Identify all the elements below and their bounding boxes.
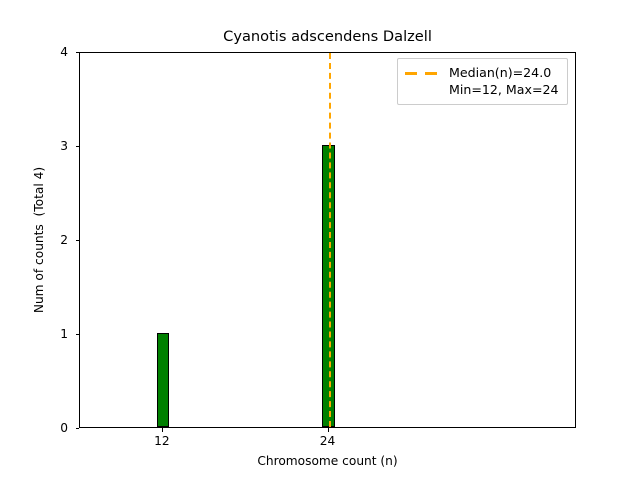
- median-line-swatch-icon: [405, 66, 441, 81]
- x-tick-label-24: 24: [298, 434, 358, 448]
- legend: Median(n)=24.0 Min=12, Max=24: [397, 58, 568, 105]
- plot-area: [79, 52, 576, 428]
- y-tick-mark-3: [76, 146, 80, 147]
- legend-entry-minmax: Min=12, Max=24: [449, 81, 559, 98]
- legend-entry-median: Median(n)=24.0: [449, 64, 559, 81]
- legend-text: Median(n)=24.0 Min=12, Max=24: [449, 64, 559, 98]
- bar-12: [157, 333, 170, 427]
- y-tick-label-4: 4: [28, 46, 68, 58]
- y-tick-mark-2: [76, 240, 80, 241]
- y-tick-label-0: 0: [28, 422, 68, 434]
- x-tick-label-12: 12: [132, 434, 192, 448]
- y-tick-label-1: 1: [28, 328, 68, 340]
- x-axis-label: Chromosome count (n): [79, 453, 576, 469]
- matplotlib-figure: Cyanotis adscendens Dalzell Num of count…: [0, 0, 640, 480]
- y-tick-label-3: 3: [28, 140, 68, 152]
- x-tick-mark-24: [328, 428, 329, 432]
- y-tick-mark-4: [76, 52, 80, 53]
- x-tick-mark-12: [162, 428, 163, 432]
- y-tick-mark-1: [76, 334, 80, 335]
- y-tick-mark-0: [76, 428, 80, 429]
- y-tick-label-2: 2: [28, 234, 68, 246]
- page-title: Cyanotis adscendens Dalzell: [79, 28, 576, 46]
- median-line: [329, 53, 331, 427]
